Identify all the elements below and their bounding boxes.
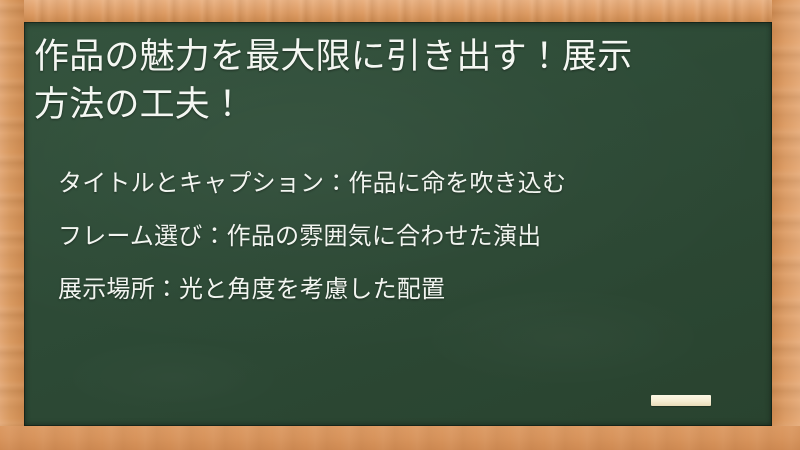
- chalk-stick-icon: [651, 395, 711, 406]
- chalkboard-surface: 作品の魅力を最大限に引き出す！展示 方法の工夫！ タイトルとキャプション：作品に…: [24, 22, 772, 426]
- frame-right-rail: [772, 0, 800, 450]
- frame-left-rail: [0, 0, 24, 450]
- chalkboard-slide: 作品の魅力を最大限に引き出す！展示 方法の工夫！ タイトルとキャプション：作品に…: [0, 0, 800, 450]
- list-item: タイトルとキャプション：作品に命を吹き込む: [58, 157, 754, 210]
- slide-title: 作品の魅力を最大限に引き出す！展示 方法の工夫！: [34, 33, 754, 129]
- frame-top-rail: [0, 0, 800, 22]
- list-item: 展示場所：光と角度を考慮した配置: [58, 263, 754, 316]
- bullet-list: タイトルとキャプション：作品に命を吹き込む フレーム選び：作品の雰囲気に合わせた…: [34, 157, 754, 316]
- frame-bottom-ledge: [0, 426, 800, 450]
- slide-content: 作品の魅力を最大限に引き出す！展示 方法の工夫！ タイトルとキャプション：作品に…: [24, 22, 772, 426]
- list-item: フレーム選び：作品の雰囲気に合わせた演出: [58, 210, 754, 263]
